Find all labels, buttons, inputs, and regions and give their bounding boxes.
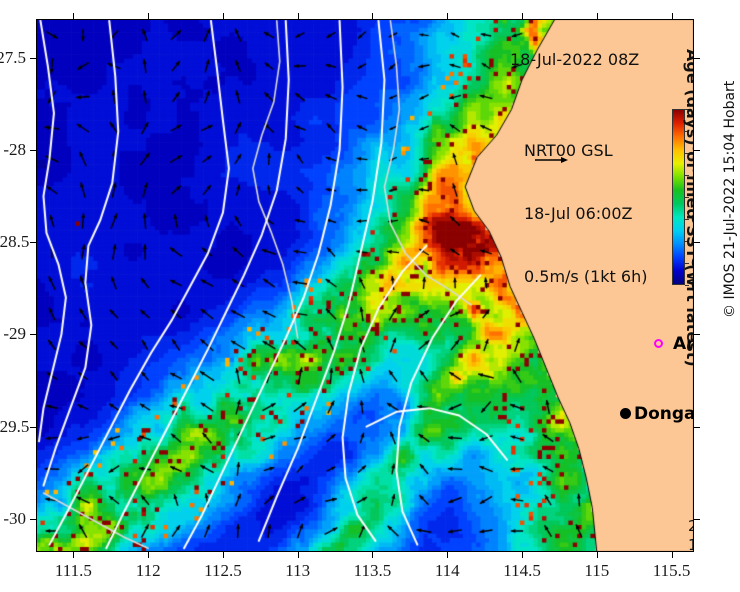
y-axis-tick-label: -28 xyxy=(0,140,26,160)
x-axis-tick xyxy=(372,552,373,558)
x-axis-tick-label: 113.5 xyxy=(354,561,392,581)
x-axis-tick-top xyxy=(223,13,224,19)
gsl-speed-label: 0.5m/s (1kt 6h) xyxy=(524,266,647,287)
y-axis-tick xyxy=(30,58,36,59)
colorbar-title: Age (days) of filled SST (wrt latest) xyxy=(683,49,694,367)
x-axis-tick-label: 114.5 xyxy=(503,561,541,581)
y-axis-tick-right xyxy=(694,150,700,151)
x-axis-tick-label: 112.5 xyxy=(204,561,242,581)
x-axis-tick xyxy=(447,552,448,558)
colorbar-tick-label: 0.5 xyxy=(691,232,694,250)
x-axis-tick-top xyxy=(447,13,448,19)
x-axis-tick-top xyxy=(672,13,673,19)
x-axis-tick-label: 114 xyxy=(435,561,460,581)
y-axis-tick-label: -29.5 xyxy=(0,417,26,437)
y-axis-tick xyxy=(30,519,36,520)
x-axis-tick-label: 115.5 xyxy=(653,561,691,581)
y-axis-tick-label: 27.5 xyxy=(0,48,26,68)
colorbar-tick-label: 1 xyxy=(691,188,694,206)
colorbar-tick-label: 1.75 xyxy=(691,122,694,140)
x-axis-tick xyxy=(672,552,673,558)
y-axis-tick-label: -30 xyxy=(0,509,26,529)
colorbar-tick-label: 1.5 xyxy=(691,144,694,162)
x-axis-tick-top xyxy=(73,13,74,19)
y-axis-tick xyxy=(30,150,36,151)
x-axis-tick-top xyxy=(148,13,149,19)
depth-deep-label: 1000m xyxy=(688,536,694,552)
x-axis-tick xyxy=(73,552,74,558)
figure-root: 18-Jul-2022 08Z NRT00 GSL 18-Jul 06:00Z … xyxy=(0,0,740,592)
y-axis-tick-right xyxy=(694,58,700,59)
colorbar-tick-label: 0.75 xyxy=(691,210,694,228)
x-axis-tick xyxy=(148,552,149,558)
y-axis-tick xyxy=(30,334,36,335)
map-plot-area[interactable]: 18-Jul-2022 08Z NRT00 GSL 18-Jul 06:00Z … xyxy=(36,19,694,552)
y-axis-tick-right xyxy=(694,427,700,428)
y-axis-tick-label: -28.5 xyxy=(0,232,26,252)
colorbar-tick-label: 0.25 xyxy=(691,254,694,272)
x-axis-tick-top xyxy=(597,13,598,19)
colorbar-tick-label: 2 xyxy=(691,100,694,118)
argo-marker-icon xyxy=(654,339,663,348)
imos-credit-label: © IMOS 21-Jul-2022 15:04 Hobart xyxy=(722,81,738,318)
x-axis-tick xyxy=(223,552,224,558)
y-axis-tick xyxy=(30,427,36,428)
y-axis-tick xyxy=(30,242,36,243)
x-axis-tick-top xyxy=(372,13,373,19)
y-axis-tick-right xyxy=(694,242,700,243)
y-axis-tick-right xyxy=(694,334,700,335)
date-stamp: 18-Jul-2022 08Z xyxy=(510,50,639,69)
gsl-time-label: 18-Jul 06:00Z xyxy=(524,203,647,224)
colorbar-tick-label: 0 xyxy=(691,276,694,294)
x-axis-tick xyxy=(597,552,598,558)
x-axis-tick-top xyxy=(298,13,299,19)
vector-scale-arrow-icon xyxy=(534,155,568,165)
y-axis-tick-right xyxy=(694,519,700,520)
y-axis-tick-label: -29 xyxy=(0,324,26,344)
x-axis-tick xyxy=(522,552,523,558)
dongara-marker-icon xyxy=(620,408,631,419)
gsl-info-block: NRT00 GSL 18-Jul 06:00Z 0.5m/s (1kt 6h) xyxy=(524,98,647,329)
x-axis-tick-label: 113 xyxy=(285,561,310,581)
dongara-city-label: Dongara xyxy=(634,404,694,424)
depth-scale-legend: 200m 1000m xyxy=(688,517,694,552)
x-axis-tick-label: 111.5 xyxy=(55,561,92,581)
x-axis-tick-label: 112 xyxy=(136,561,161,581)
x-axis-tick-label: 115 xyxy=(584,561,609,581)
x-axis-tick xyxy=(298,552,299,558)
x-axis-tick-top xyxy=(522,13,523,19)
colorbar-tick-label: 1.25 xyxy=(691,166,694,184)
depth-shallow-label: 200m xyxy=(688,517,694,536)
